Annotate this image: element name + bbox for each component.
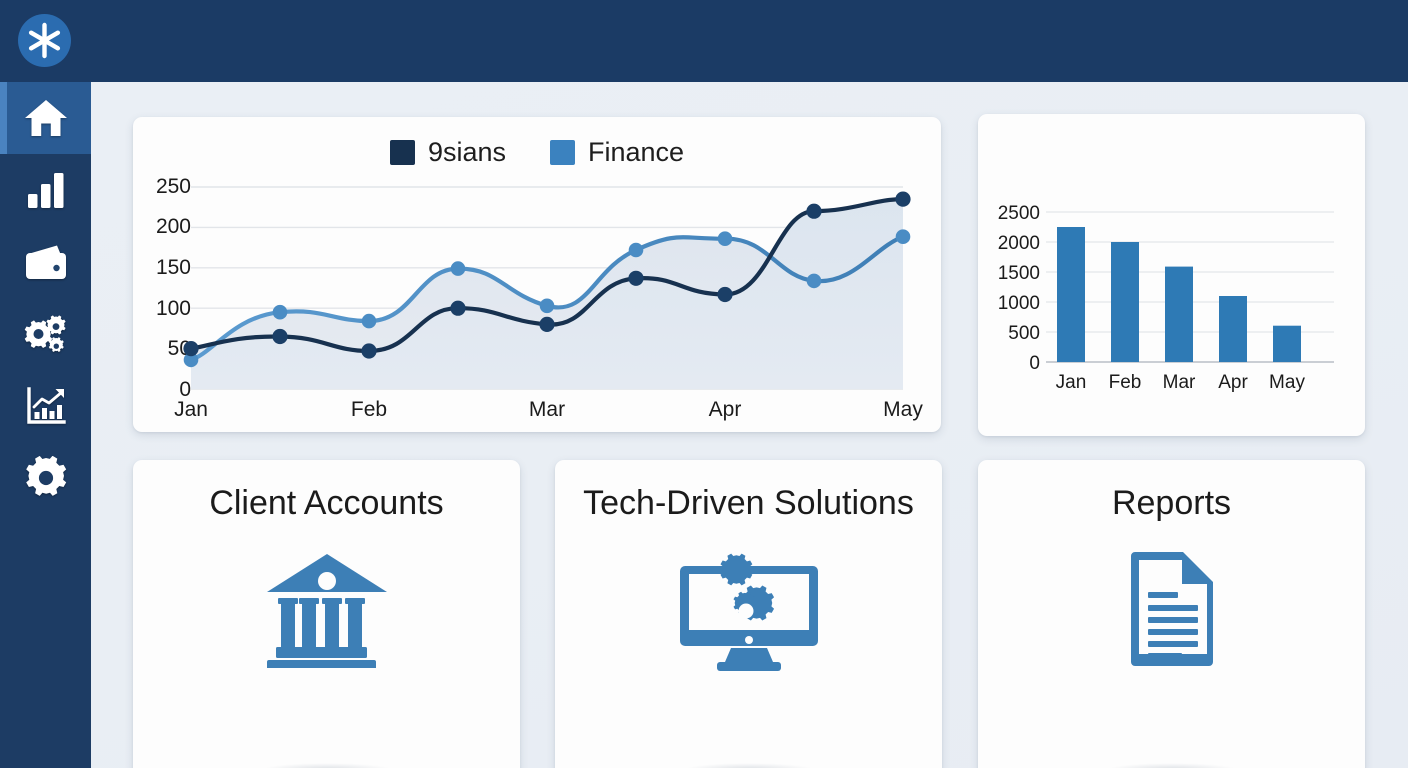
x-axis-tick: Feb — [329, 398, 409, 422]
wallet-icon — [23, 243, 69, 281]
x-axis-tick: May — [863, 398, 943, 422]
bar-chart-card: 2500 2000 1500 1000 500 0 — [978, 114, 1365, 436]
trend-chart-icon — [23, 385, 69, 427]
bank-building-icon — [261, 548, 393, 668]
top-header-bar — [0, 0, 1408, 82]
bar-jan — [1057, 227, 1085, 362]
card-title: Client Accounts — [133, 484, 520, 523]
card-title: Tech-Driven Solutions — [555, 484, 942, 523]
line-chart-plot — [133, 117, 941, 432]
reports-card[interactable]: Reports — [978, 460, 1365, 768]
bar-chart-icon — [25, 170, 67, 210]
sidebar-item-wallet[interactable] — [0, 226, 91, 298]
left-sidebar — [0, 0, 91, 768]
bar-x-axis-tick: Mar — [1149, 372, 1209, 394]
bar-may — [1273, 326, 1301, 362]
bar-mar — [1165, 267, 1193, 362]
card-title: Reports — [978, 484, 1365, 523]
sidebar-nav-list — [0, 82, 91, 514]
sidebar-item-home[interactable] — [0, 82, 91, 154]
bar-apr — [1219, 296, 1247, 362]
sidebar-item-reports[interactable] — [0, 370, 91, 442]
tech-driven-solutions-card[interactable]: Tech-Driven Solutions — [555, 460, 942, 768]
card-icon-wrap — [978, 548, 1365, 666]
bar-x-axis-tick: Feb — [1095, 372, 1155, 394]
card-icon-wrap — [133, 548, 520, 668]
asterisk-snowflake-icon — [18, 14, 71, 67]
icon-drop-shadow — [1107, 763, 1237, 768]
document-lines-icon — [1126, 548, 1218, 666]
line-chart-card: 9sians Finance 250 200 150 100 50 0 — [133, 117, 941, 432]
app-logo[interactable] — [18, 14, 71, 67]
main-content-area: 9sians Finance 250 200 150 100 50 0 — [91, 82, 1408, 768]
sidebar-item-settings[interactable] — [0, 442, 91, 514]
icon-drop-shadow — [262, 763, 392, 768]
x-axis-tick: Jan — [151, 398, 231, 422]
bar-x-axis-tick: May — [1257, 372, 1317, 394]
gear-icon — [24, 456, 68, 500]
card-icon-wrap — [555, 548, 942, 674]
bar-group — [1057, 227, 1301, 362]
icon-drop-shadow — [684, 763, 814, 768]
x-axis-tick: Mar — [507, 398, 587, 422]
bar-x-axis-tick: Apr — [1203, 372, 1263, 394]
dashboard-root: 9sians Finance 250 200 150 100 50 0 — [0, 0, 1408, 768]
monitor-gears-icon — [679, 548, 819, 674]
x-axis-tick: Apr — [685, 398, 765, 422]
sidebar-item-analytics[interactable] — [0, 154, 91, 226]
bar-x-axis-tick: Jan — [1041, 372, 1101, 394]
gears-icon — [23, 313, 69, 355]
home-icon — [23, 97, 69, 139]
sidebar-item-operations[interactable] — [0, 298, 91, 370]
client-accounts-card[interactable]: Client Accounts — [133, 460, 520, 768]
bar-feb — [1111, 242, 1139, 362]
